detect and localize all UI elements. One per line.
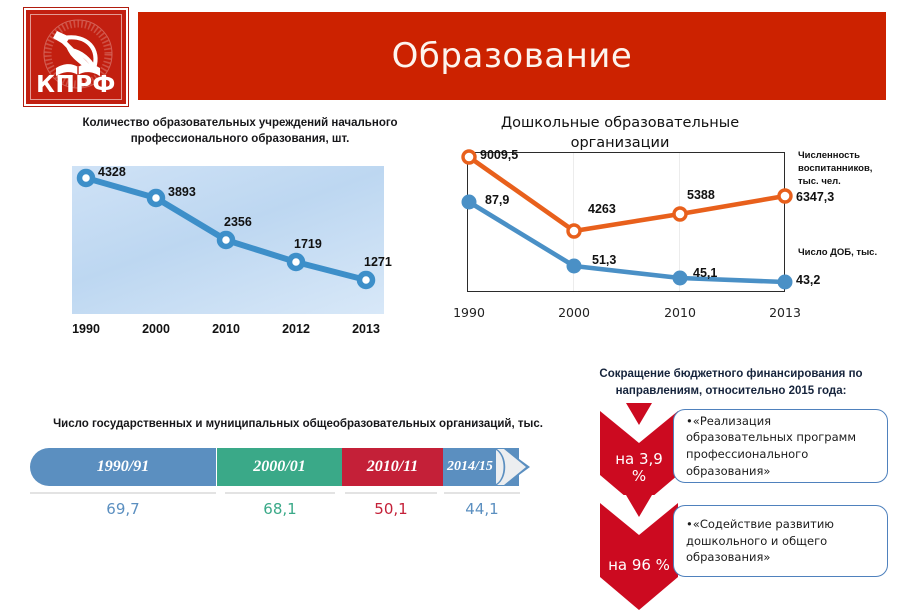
chart2-blue-label-2000: 51,3: [592, 253, 616, 267]
chart1-label-2013: 1271: [364, 255, 392, 269]
budget-title-line1: Сокращение бюджетного финансирования по: [599, 368, 862, 380]
timeline-value-cell: 44,1: [444, 492, 520, 518]
chart2-orange-label-2010: 5388: [687, 188, 715, 202]
chart2-orange-label-2000: 4263: [588, 202, 616, 216]
budget-percent-1: на 3,9: [615, 450, 663, 468]
budget-percent-sign-1: %: [632, 467, 646, 485]
budget-chevron-1: на 3,9 %: [600, 403, 678, 508]
chart1-tick-1990: 1990: [72, 322, 100, 336]
budget-callout-2: «Содействие развитию дошкольного и общег…: [673, 505, 888, 577]
budget-title-line2: направлениям, относительно 2015 года:: [616, 385, 847, 397]
chart1-label-2010: 2356: [224, 215, 252, 229]
chart1-x-axis: 1990 2000 2010 2012 2013: [60, 322, 400, 342]
timeline-bar: 1990/91 2000/01 2010/11 2014/15: [30, 448, 550, 486]
chart2-x-axis: 1990 2000 2010 2013: [440, 305, 840, 325]
slide-canvas: Образование КПРФ Количество образователь…: [0, 0, 900, 610]
chart2-tick-1990: 1990: [453, 305, 485, 320]
chevron-down-icon: [600, 495, 678, 610]
budget-chevron-2: на 96 %: [600, 495, 678, 610]
chart2-tick-2013: 2013: [769, 305, 801, 320]
budget-section-title: Сокращение бюджетного финансирования по …: [575, 366, 887, 399]
chart1-tick-2013: 2013: [352, 322, 380, 336]
value-rule: [444, 492, 520, 494]
kprf-logo: КПРФ: [24, 8, 128, 106]
budget-callout-1-text: «Реализация образовательных программ про…: [674, 413, 887, 480]
timeline-value-cell: 68,1: [225, 492, 335, 518]
chart1-title: Количество образовательных учреждений на…: [44, 116, 436, 147]
chart2-tick-2000: 2000: [558, 305, 590, 320]
value-rule: [30, 492, 216, 494]
timeline-arrow-icon: [496, 448, 530, 486]
chart1-label-2000: 3893: [168, 185, 196, 199]
timeline-value-2000-01: 68,1: [225, 500, 335, 518]
timeline-segment-label: 2014/15: [447, 459, 493, 475]
chart2-tick-2010: 2010: [664, 305, 696, 320]
page-title: Образование: [138, 12, 886, 100]
timeline-value-2010-11: 50,1: [345, 500, 437, 518]
timeline-segment-label: 2010/11: [367, 458, 419, 476]
timeline-values: 69,7 68,1 50,1 44,1: [30, 492, 570, 532]
timeline-value-cell: 50,1: [345, 492, 437, 518]
chart2-blue-end-value: 43,2: [796, 273, 820, 287]
chart1-series-line: [58, 158, 398, 328]
timeline-value-2014-15: 44,1: [444, 500, 520, 518]
timeline-segment-2000-01: 2000/01: [217, 448, 342, 486]
chart1-tick-2012: 2012: [282, 322, 310, 336]
timeline-segment-2010-11: 2010/11: [342, 448, 443, 486]
timeline-title: Число государственных и муниципальных об…: [18, 418, 578, 430]
timeline-value-cell: 69,7: [30, 492, 216, 518]
budget-callout-1: «Реализация образовательных программ про…: [673, 409, 888, 483]
chart2-legend-orange: Численность воспитанников, тыс. чел.: [798, 150, 872, 188]
value-rule: [225, 492, 335, 494]
chart2-legend-blue: Число ДОБ, тыс.: [798, 247, 877, 260]
budget-chevron-1-text: на 3,9 %: [600, 451, 678, 486]
chart2-orange-label-1990: 9009,5: [480, 148, 518, 162]
chart1-tick-2010: 2010: [212, 322, 240, 336]
budget-callout-2-text: «Содействие развитию дошкольного и общег…: [674, 516, 887, 566]
timeline-segment-1990-91: 1990/91: [30, 448, 216, 486]
chart1-label-1990: 4328: [98, 165, 126, 179]
chart2-blue-label-2010: 45,1: [693, 266, 717, 280]
budget-chevron-2-text: на 96 %: [600, 557, 678, 574]
chart1-tick-2000: 2000: [142, 322, 170, 336]
logo-wordmark: КПРФ: [26, 74, 126, 97]
timeline-segment-label: 2000/01: [253, 458, 305, 476]
chart1-np-education-line: 4328 3893 2356 1719 1271: [72, 166, 384, 314]
timeline-segment-label: 1990/91: [97, 458, 149, 476]
chart1-label-2012: 1719: [294, 237, 322, 251]
chart2-blue-label-1990: 87,9: [485, 193, 509, 207]
chart2-orange-end-value: 6347,3: [796, 190, 834, 204]
value-rule: [345, 492, 437, 494]
timeline-value-1990-91: 69,7: [30, 500, 216, 518]
budget-percent-2: на 96 %: [608, 556, 670, 574]
